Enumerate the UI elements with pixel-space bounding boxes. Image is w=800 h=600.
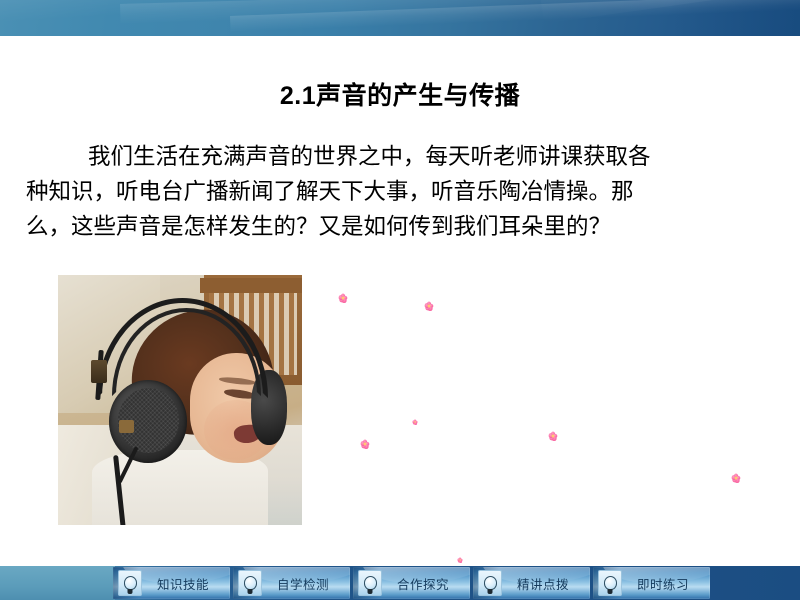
nav-button-2[interactable]: 自学检测 — [233, 567, 350, 599]
nav-button-label: 即时练习 — [622, 574, 710, 593]
nav-button-label: 合作探究 — [382, 574, 470, 593]
footer-left-tint — [0, 566, 115, 600]
page-title: 2.1声音的产生与传播 — [0, 76, 800, 112]
nav-button-1[interactable]: 知识技能 — [113, 567, 230, 599]
lightbulb-icon — [238, 570, 262, 596]
flower-icon — [425, 302, 434, 311]
lightbulb-icon — [478, 570, 502, 596]
lightbulb-icon — [358, 570, 382, 596]
lightbulb-icon — [118, 570, 142, 596]
nav-button-4[interactable]: 精讲点拨 — [473, 567, 590, 599]
body-line: 么，这些声音是怎样发生的？又是如何传到我们耳朵里的？ — [26, 209, 778, 244]
body-line: 我们生活在充满声音的世界之中，每天听老师讲课获取各 — [26, 139, 778, 174]
bulb-glass — [244, 576, 257, 590]
baby-headphones-photo — [58, 275, 302, 525]
flower-icon — [732, 474, 741, 483]
top-banner — [0, 0, 800, 36]
flower-icon — [457, 557, 462, 562]
banner-right-shade — [670, 0, 800, 36]
photo-chair-rail — [200, 278, 302, 293]
nav-button-5[interactable]: 即时练习 — [593, 567, 710, 599]
flower-icon — [339, 294, 348, 303]
flower-icon — [361, 440, 370, 449]
nav-button-label: 精讲点拨 — [502, 574, 590, 593]
bulb-glass — [484, 576, 497, 590]
nav-button-label: 知识技能 — [142, 574, 230, 593]
nav-button-label: 自学检测 — [262, 574, 350, 593]
bulb-glass — [364, 576, 377, 590]
nav-button-3[interactable]: 合作探究 — [353, 567, 470, 599]
photo-headphone-logo — [91, 360, 107, 383]
bulb-glass — [604, 576, 617, 590]
lightbulb-icon — [598, 570, 622, 596]
bottom-navigation: 知识技能自学检测合作探究精讲点拨即时练习 — [113, 567, 713, 599]
flower-icon — [412, 419, 417, 424]
flower-icon — [549, 432, 558, 441]
body-paragraph: 我们生活在充满声音的世界之中，每天听老师讲课获取各 种知识，听电台广播新闻了解天… — [26, 139, 778, 244]
bulb-glass — [124, 576, 137, 590]
body-line: 种知识，听电台广播新闻了解天下大事，听音乐陶冶情操。那 — [26, 174, 778, 209]
photo-headphone-badge — [119, 420, 134, 433]
